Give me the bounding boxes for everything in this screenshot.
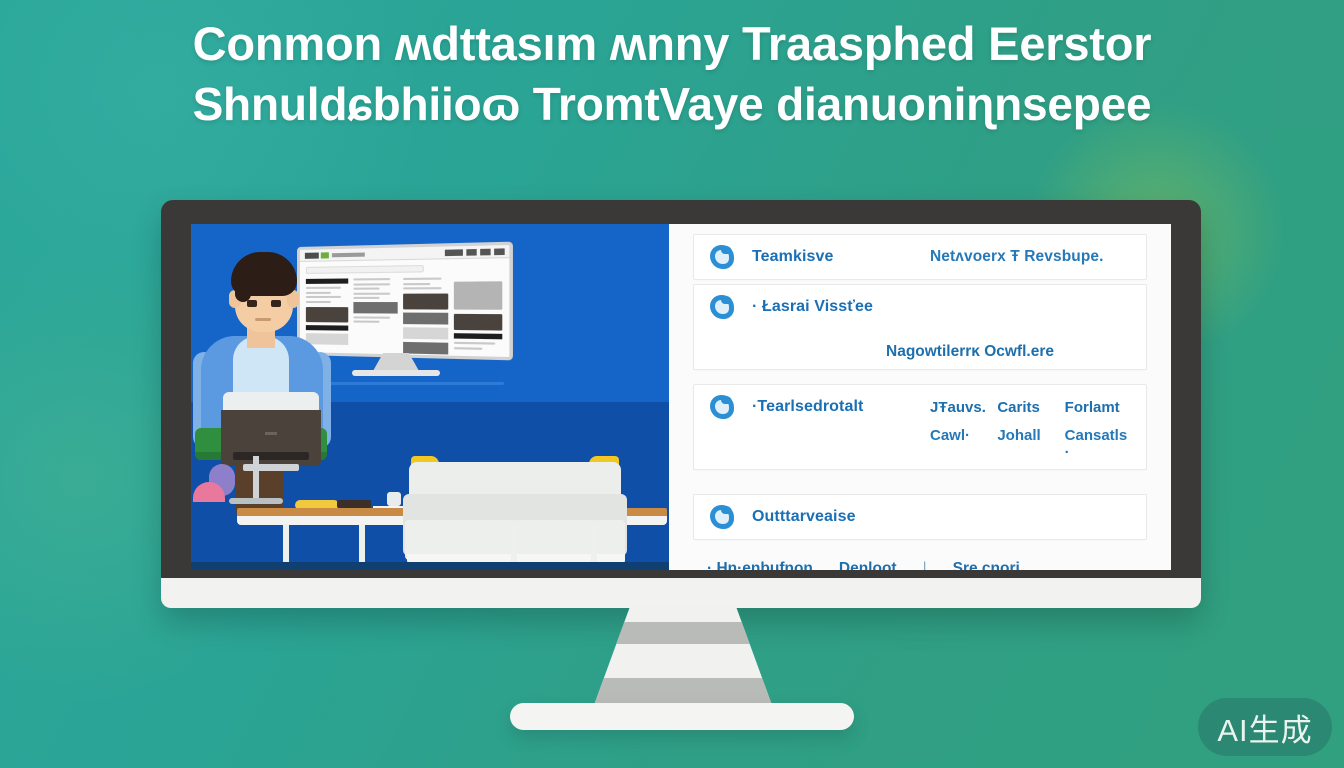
printer-indicator-icon — [265, 432, 277, 435]
office-chair-base — [229, 498, 283, 504]
browser-logo-icon — [305, 253, 319, 259]
mock-bar — [306, 278, 348, 283]
list-pane: Teamkisve Netʌvoerx Ŧ Revsbupe. · Łasrai… — [669, 224, 1171, 570]
mock-band — [403, 342, 449, 355]
wall-monitor-content — [300, 258, 509, 360]
list-item[interactable]: ·Tearlsedrotalt JŦauvs. Carits Forlamt C… — [693, 384, 1147, 470]
mock-line — [306, 296, 342, 298]
list-item-title: ·Tearlsedrotalt — [752, 398, 930, 416]
column-cell: Carits — [997, 399, 1064, 416]
mock-image-block — [454, 281, 502, 309]
illustration-wall-monitor — [297, 247, 497, 362]
mock-line — [403, 282, 430, 284]
mock-bar — [306, 325, 348, 331]
blue-blob-icon — [708, 293, 736, 321]
column-cell: Johall — [997, 427, 1064, 461]
printer-output-slot — [233, 452, 309, 460]
mock-line — [454, 342, 495, 345]
list-item-title: Teamkisve — [752, 248, 930, 266]
printer-body — [221, 410, 321, 466]
mock-line — [306, 287, 342, 289]
list-footer: · Hn·enbufnon Denloot | Sre cnori — [693, 544, 1147, 570]
illustration-pane — [191, 224, 669, 570]
mock-line — [353, 278, 390, 280]
window-controls — [445, 248, 505, 256]
desk-dark-item — [337, 500, 371, 508]
column-cell: Cansatls · — [1065, 427, 1132, 461]
list-item-subtitle: Nagowtilerrĸ Ocwfl.ere — [708, 343, 1132, 361]
monitor-stand-base — [510, 703, 854, 730]
list-item-row: · Łasrai Vissťee — [708, 293, 1132, 321]
list-item-row: ·Tearlsedrotalt JŦauvs. Carits Forlamt — [708, 393, 1132, 421]
list-item-title: · Łasrai Vissťee — [752, 298, 930, 316]
title-line-2: Shnuldɕbhiioɷ TromtVaye dianuoniɳnsepee — [0, 74, 1344, 134]
mock-band — [306, 333, 348, 345]
column-cell: JŦauvs. — [930, 399, 997, 416]
mock-band — [353, 302, 397, 314]
browser-tab-title-placeholder — [332, 253, 365, 258]
mock-line — [306, 300, 331, 302]
list-item[interactable]: Outttarveaise — [693, 494, 1147, 540]
mock-image-block — [454, 314, 502, 331]
list-item-title: Outttarveaise — [752, 508, 930, 526]
office-chair-leg — [253, 456, 259, 500]
printer-paper-tray — [243, 464, 299, 471]
maximize-icon — [480, 249, 490, 256]
footer-link-left[interactable]: · Hn·enbufnon — [707, 560, 813, 570]
list-item-columns-row-1: JŦauvs. Carits Forlamt — [930, 399, 1132, 416]
mock-line — [306, 291, 331, 293]
mock-search-input — [306, 265, 424, 274]
list-item-row: Teamkisve Netʌvoerx Ŧ Revsbupe. — [708, 243, 1132, 271]
person-mouth — [255, 318, 271, 321]
mock-line — [353, 288, 379, 290]
mock-line — [353, 297, 379, 299]
mock-band — [403, 313, 449, 325]
mock-line — [403, 287, 442, 289]
footer-link-middle[interactable]: Denloot — [839, 560, 897, 570]
list-item[interactable]: Teamkisve Netʌvoerx Ŧ Revsbupe. — [693, 234, 1147, 280]
window-button-wide-icon — [445, 249, 463, 256]
person-eye-right — [271, 300, 281, 307]
mock-column — [403, 277, 449, 357]
mock-line — [454, 347, 483, 350]
mock-image-block — [306, 307, 348, 322]
list-item-columns-row-2: Cawl· Johall Cansatls · — [708, 427, 1132, 461]
monitor-frame: Teamkisve Netʌvoerx Ŧ Revsbupe. · Łasrai… — [161, 200, 1201, 608]
list-item[interactable]: · Łasrai Vissťee Nagowtilerrĸ Ocwfl.ere — [693, 284, 1147, 370]
page-root: Conmon ʍdttasım ʍnny Traasphed Eerstor S… — [0, 0, 1344, 768]
mock-image-block — [403, 294, 449, 310]
list-item-meta: Netʌvoerx Ŧ Revsbupe. — [930, 248, 1104, 266]
mock-band — [403, 327, 449, 339]
mock-column — [306, 278, 348, 355]
browser-logo-accent-icon — [321, 252, 329, 258]
mock-line — [353, 283, 390, 285]
ai-generated-watermark: AI生成 — [1198, 698, 1332, 756]
person-eye-left — [247, 300, 257, 307]
blue-blob-icon — [708, 243, 736, 271]
mock-columns — [306, 277, 502, 359]
floor-shadow — [191, 562, 669, 570]
blue-blob-icon — [708, 393, 736, 421]
footer-link-right[interactable]: Sre cnori — [953, 560, 1020, 570]
monitor-screen: Teamkisve Netʌvoerx Ŧ Revsbupe. · Łasrai… — [191, 224, 1171, 570]
mock-bar — [454, 333, 502, 339]
monitor-stand-neck — [590, 604, 776, 716]
close-icon — [494, 248, 505, 255]
mock-line — [353, 316, 390, 318]
mock-line — [353, 292, 390, 294]
list-item-row: Outttarveaise — [708, 503, 1132, 531]
title-line-1: Conmon ʍdttasım ʍnny Traasphed Eerstor — [0, 14, 1344, 74]
mock-line — [403, 278, 442, 280]
monitor-chin — [161, 578, 1201, 608]
wall-monitor-body — [297, 242, 513, 361]
column-cell: Cawl· — [930, 427, 997, 461]
wall-monitor-base — [352, 370, 440, 376]
cup-icon — [387, 492, 401, 506]
blue-blob-icon — [708, 503, 736, 531]
page-title: Conmon ʍdttasım ʍnny Traasphed Eerstor S… — [0, 14, 1344, 134]
mock-column — [353, 278, 397, 356]
minimize-icon — [466, 249, 476, 256]
footer-separator: | — [923, 560, 927, 570]
column-cell: Forlamt — [1065, 399, 1132, 416]
mock-line — [353, 320, 379, 322]
person-hair — [231, 252, 297, 296]
mock-column — [454, 277, 502, 359]
sofa-backrest — [409, 462, 621, 498]
